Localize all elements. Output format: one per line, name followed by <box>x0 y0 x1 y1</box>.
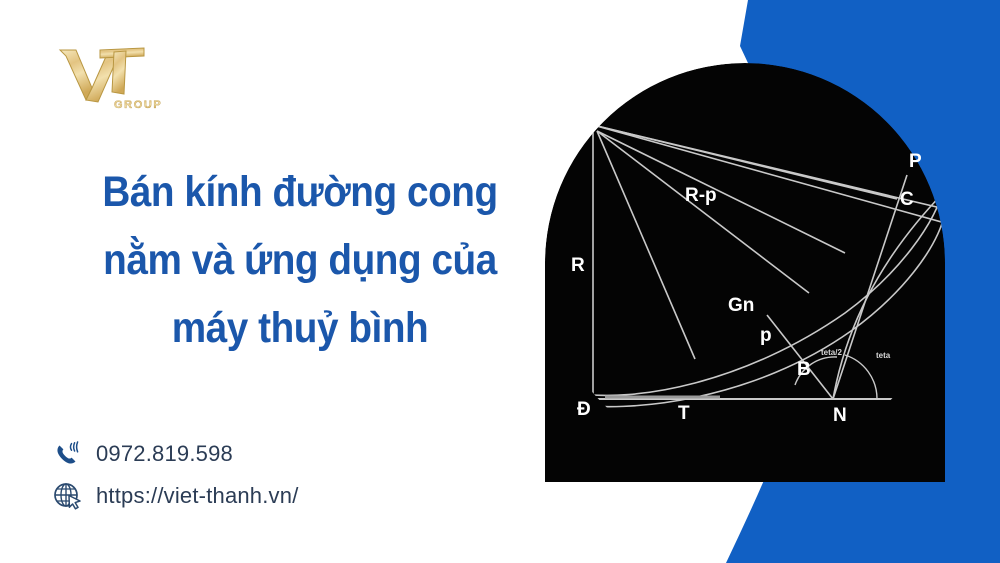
globe-cursor-icon <box>52 481 82 511</box>
svg-text:teta: teta <box>876 351 891 360</box>
logo-subtext: GROUP <box>114 99 162 111</box>
svg-text:Gn: Gn <box>728 295 754 316</box>
svg-text:T: T <box>678 403 690 424</box>
contact-row-phone[interactable]: 0972.819.598 <box>52 434 299 474</box>
page-title: Bán kính đường cong nằm và ứng dụng của … <box>97 158 504 362</box>
title-line-2: nằm và ứng dụng của <box>97 226 504 294</box>
svg-text:R-p: R-p <box>685 185 717 206</box>
svg-text:teta/2: teta/2 <box>821 348 842 357</box>
title-line-1: Bán kính đường cong <box>97 158 504 226</box>
phone-number: 0972.819.598 <box>96 441 233 467</box>
svg-text:B: B <box>797 359 811 380</box>
svg-text:N: N <box>833 405 847 426</box>
svg-text:p: p <box>760 325 772 346</box>
svg-text:C: C <box>900 189 914 210</box>
diagram-disk <box>545 63 945 482</box>
contact-row-website[interactable]: https://viet-thanh.vn/ <box>52 476 299 516</box>
poster-canvas: GROUP Bán kính đường cong nằm và ứng dụn… <box>0 0 1000 563</box>
company-logo: GROUP <box>52 42 164 114</box>
svg-text:P: P <box>909 151 922 172</box>
contact-block: 0972.819.598 https://viet-thanh.vn/ <box>52 434 299 518</box>
svg-text:R: R <box>571 255 585 276</box>
website-url: https://viet-thanh.vn/ <box>96 483 299 509</box>
curve-radius-diagram: R R-p Gn p B C P Đ T N teta/2 teta <box>545 63 945 482</box>
title-line-3: máy thuỷ bình <box>97 294 504 362</box>
svg-text:Đ: Đ <box>577 399 591 420</box>
phone-icon <box>52 439 82 469</box>
